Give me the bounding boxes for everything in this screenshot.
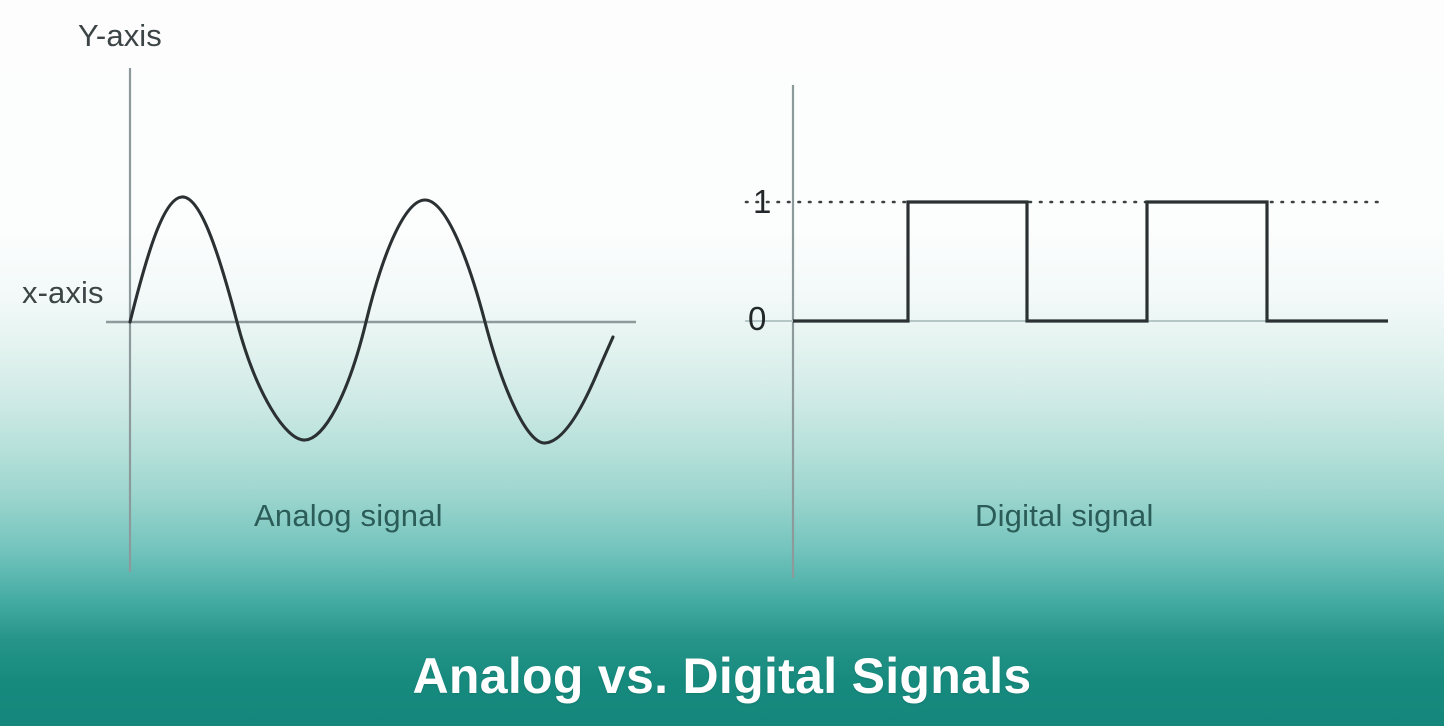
analog-sine-curve — [130, 197, 613, 443]
signal-comparison-figure: Y-axis x-axis 1 0 Analog signal Digital … — [0, 0, 1444, 726]
title-bar: Analog vs. Digital Signals — [0, 626, 1444, 726]
digital-tick-label-one: 1 — [753, 183, 771, 221]
digital-signal-caption: Digital signal — [975, 498, 1154, 534]
analog-y-axis-label: Y-axis — [78, 18, 162, 54]
figure-title: Analog vs. Digital Signals — [412, 647, 1031, 705]
analog-signal-caption: Analog signal — [254, 498, 443, 534]
digital-square-wave — [793, 202, 1388, 321]
analog-x-axis-label: x-axis — [22, 275, 104, 311]
analog-panel-group — [106, 68, 636, 572]
plot-vector-layer — [0, 0, 1444, 726]
digital-tick-label-zero: 0 — [748, 300, 766, 338]
